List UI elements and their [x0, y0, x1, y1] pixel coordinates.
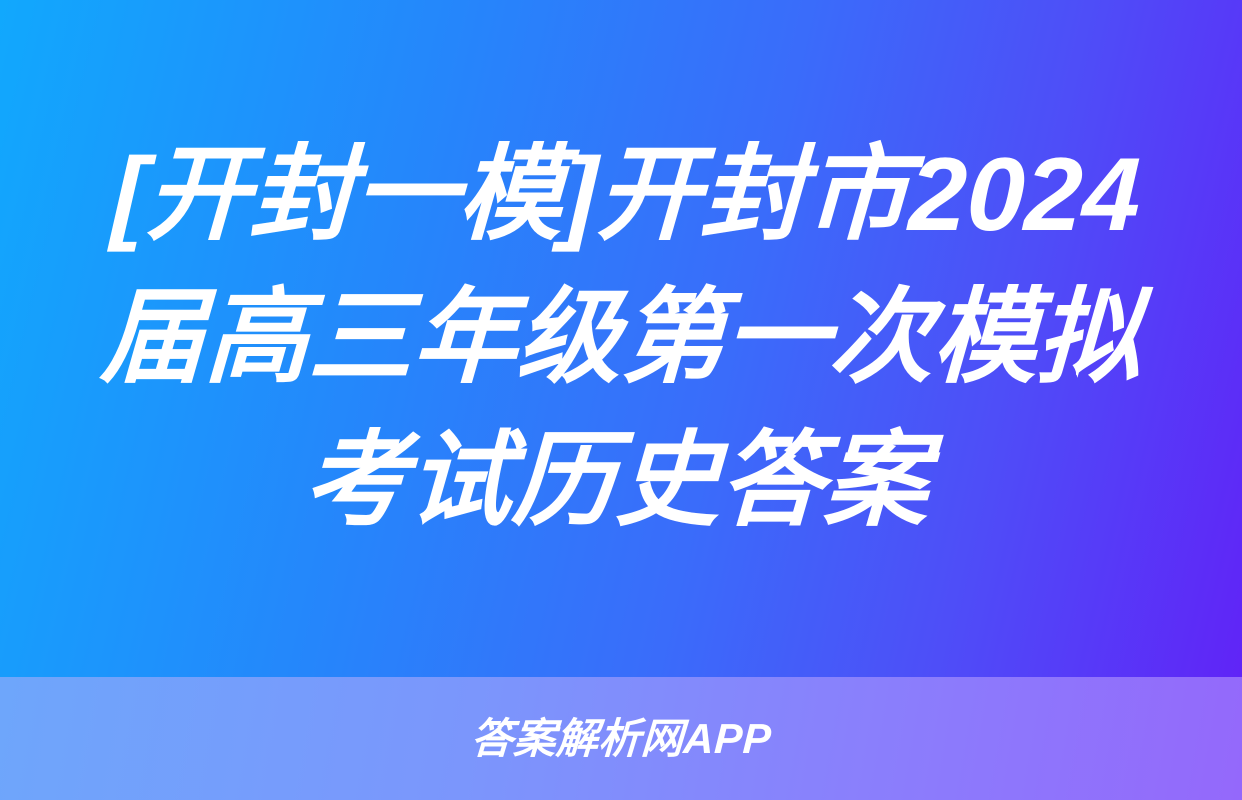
exam-answer-banner: [开封一模]开封市2024届高三年级第一次模拟考试历史答案 答案解析网APP: [0, 0, 1242, 800]
hero-gradient-panel: [开封一模]开封市2024届高三年级第一次模拟考试历史答案: [0, 0, 1242, 677]
page-title: [开封一模]开封市2024届高三年级第一次模拟考试历史答案: [84, 124, 1159, 553]
footer-branding-band: 答案解析网APP: [0, 677, 1242, 800]
app-watermark-label: 答案解析网APP: [470, 716, 773, 762]
